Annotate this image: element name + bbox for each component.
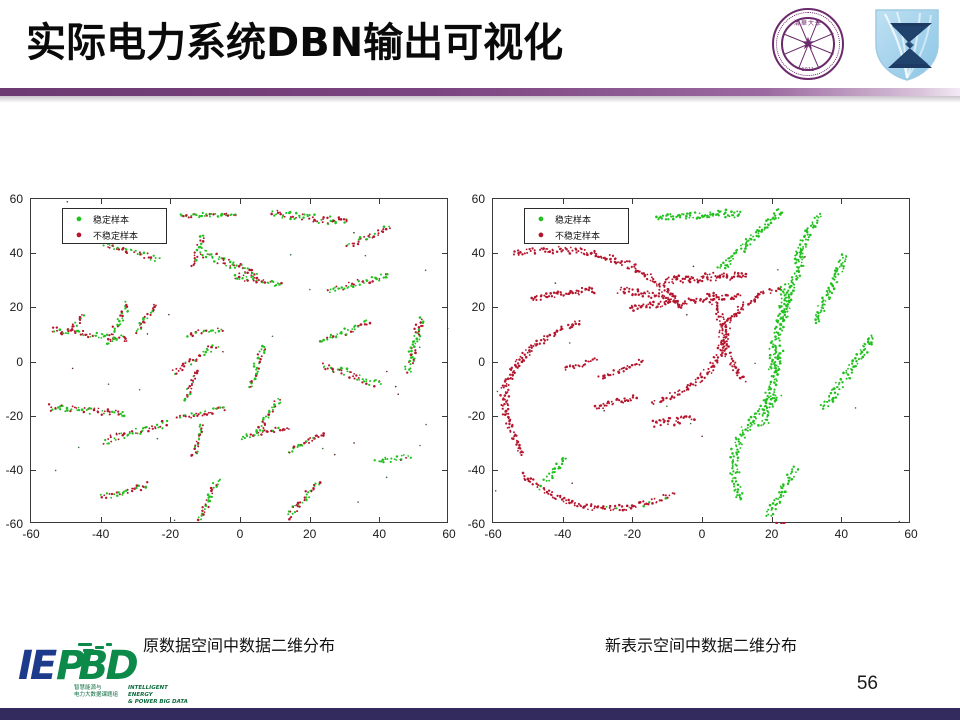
x-tick-top bbox=[632, 199, 633, 204]
scatter-point bbox=[694, 419, 696, 421]
scatter-point bbox=[841, 381, 843, 383]
scatter-point bbox=[681, 391, 683, 393]
scatter-point bbox=[726, 276, 729, 279]
scatter-point bbox=[285, 212, 287, 214]
x-tick-label: -60 bbox=[484, 527, 501, 541]
scatter-point bbox=[197, 519, 200, 522]
scatter-point bbox=[157, 438, 159, 440]
scatter-point bbox=[709, 371, 711, 373]
scatter-point bbox=[773, 391, 775, 393]
scatter-point bbox=[86, 409, 88, 411]
scatter-point bbox=[93, 335, 95, 337]
scatter-point bbox=[790, 292, 793, 295]
x-tick-top bbox=[240, 199, 241, 204]
scatter-point bbox=[556, 330, 559, 333]
scatter-point bbox=[736, 454, 738, 456]
scatter-point bbox=[268, 417, 270, 419]
scatter-point bbox=[263, 429, 265, 431]
scatter-point bbox=[842, 372, 845, 375]
scatter-point bbox=[273, 403, 276, 406]
scatter-point bbox=[353, 284, 355, 286]
scatter-point bbox=[678, 389, 680, 391]
scatter-point bbox=[555, 498, 557, 500]
scatter-point bbox=[192, 213, 194, 215]
scatter-point bbox=[265, 415, 267, 417]
scatter-point bbox=[631, 306, 634, 309]
scatter-point bbox=[161, 427, 163, 429]
scatter-point bbox=[771, 289, 773, 291]
scatter-point bbox=[565, 248, 568, 251]
scatter-point bbox=[788, 299, 790, 301]
scatter-point bbox=[725, 347, 727, 349]
scatter-point bbox=[663, 286, 665, 288]
scatter-point bbox=[792, 290, 794, 292]
scatter-point bbox=[105, 497, 107, 499]
scatter-point bbox=[652, 304, 654, 306]
scatter-point bbox=[647, 303, 649, 305]
scatter-point bbox=[635, 397, 638, 400]
scatter-point bbox=[575, 364, 577, 366]
scatter-point bbox=[779, 357, 781, 359]
scatter-point bbox=[711, 303, 713, 305]
scatter-point bbox=[538, 489, 540, 491]
scatter-point bbox=[656, 283, 658, 285]
scatter-point bbox=[506, 383, 508, 385]
scatter-point bbox=[117, 318, 119, 320]
scatter-point bbox=[783, 308, 785, 310]
scatter-point bbox=[736, 448, 738, 450]
scatter-point bbox=[692, 383, 694, 385]
scatter-point bbox=[259, 358, 262, 361]
scatter-point bbox=[614, 505, 616, 507]
scatter-point bbox=[594, 505, 596, 507]
scatter-point bbox=[779, 334, 781, 336]
scatter-point bbox=[120, 310, 123, 313]
scatter-point bbox=[672, 218, 675, 221]
scatter-point bbox=[329, 291, 331, 293]
scatter-point bbox=[774, 335, 777, 338]
scatter-point bbox=[251, 386, 253, 388]
scatter-point bbox=[381, 458, 384, 461]
scatter-point bbox=[280, 282, 283, 285]
scatter-point bbox=[771, 403, 773, 405]
scatter-point bbox=[307, 438, 309, 440]
scatter-point bbox=[709, 211, 711, 213]
scatter-point bbox=[775, 498, 777, 500]
x-tick-label: -20 bbox=[162, 527, 179, 541]
scatter-point bbox=[228, 259, 230, 261]
scatter-point bbox=[723, 341, 726, 344]
scatter-point bbox=[747, 427, 749, 429]
scatter-point bbox=[510, 419, 512, 421]
scatter-point bbox=[782, 290, 784, 292]
scatter-point bbox=[861, 356, 864, 359]
scatter-point bbox=[55, 470, 57, 472]
scatter-point bbox=[636, 363, 638, 365]
scatter-point bbox=[743, 250, 745, 252]
scatter-point bbox=[765, 419, 767, 421]
scatter-point bbox=[642, 295, 645, 298]
scatter-point bbox=[852, 359, 855, 362]
scatter-point bbox=[258, 368, 260, 370]
scatter-point bbox=[253, 280, 255, 282]
scatter-point bbox=[669, 392, 671, 394]
scatter-point bbox=[731, 277, 734, 280]
scatter-point bbox=[741, 276, 743, 278]
scatter-point bbox=[740, 307, 742, 309]
scatter-point bbox=[184, 398, 187, 401]
scatter-point bbox=[759, 226, 761, 228]
scatter-point bbox=[603, 374, 606, 377]
y-tick-right bbox=[904, 362, 909, 363]
scatter-point bbox=[588, 361, 590, 363]
scatter-point bbox=[146, 317, 148, 319]
scatter-point bbox=[827, 294, 829, 296]
scatter-point bbox=[330, 288, 332, 290]
scatter-point bbox=[607, 401, 610, 404]
scatter-point bbox=[203, 237, 205, 239]
scatter-point bbox=[690, 382, 693, 385]
scatter-point bbox=[739, 211, 741, 213]
scatter-point bbox=[672, 215, 674, 217]
scatter-point bbox=[199, 215, 202, 218]
scatter-point bbox=[197, 329, 199, 331]
seal-year-text: 1911 bbox=[772, 67, 844, 73]
scatter-point bbox=[686, 314, 688, 316]
scatter-point bbox=[733, 485, 735, 487]
scatter-point bbox=[727, 345, 730, 348]
scatter-point bbox=[567, 250, 569, 252]
scatter-point bbox=[656, 422, 658, 424]
scatter-point bbox=[189, 391, 191, 393]
scatter-point bbox=[724, 212, 727, 215]
scatter-point bbox=[365, 319, 367, 321]
scatter-point bbox=[817, 305, 819, 307]
scatter-point bbox=[104, 410, 106, 412]
scatter-point bbox=[322, 434, 325, 437]
scatter-point bbox=[584, 363, 586, 365]
scatter-point bbox=[725, 336, 727, 338]
scatter-point bbox=[725, 209, 728, 212]
scatter-point bbox=[365, 255, 367, 257]
scatter-point bbox=[290, 254, 292, 256]
page-title: 实际电力系统DBN输出可视化 bbox=[26, 14, 563, 72]
scatter-point bbox=[734, 362, 736, 364]
scatter-point bbox=[693, 266, 695, 268]
scatter-point bbox=[190, 412, 192, 414]
scatter-point bbox=[207, 506, 209, 508]
scatter-point bbox=[766, 511, 768, 513]
scatter-point bbox=[660, 424, 662, 426]
scatter-point bbox=[202, 424, 204, 426]
scatter-point bbox=[103, 244, 105, 246]
scatter-point bbox=[279, 429, 281, 431]
legend-label-stable: 稳定样本 bbox=[552, 213, 591, 226]
scatter-point bbox=[514, 433, 516, 435]
scatter-point bbox=[555, 282, 557, 284]
x-tick bbox=[379, 517, 380, 522]
scatter-point bbox=[131, 490, 133, 492]
scatter-point bbox=[179, 367, 181, 369]
scatter-point bbox=[837, 386, 839, 388]
scatter-point bbox=[723, 339, 725, 341]
scatter-point bbox=[532, 345, 534, 347]
scatter-point bbox=[563, 497, 565, 499]
scatter-point bbox=[140, 327, 142, 329]
scatter-point bbox=[735, 496, 737, 498]
scatter-point bbox=[775, 367, 777, 369]
brand-mark-ie: IE bbox=[18, 645, 54, 687]
scatter-point bbox=[797, 259, 799, 261]
scatter-point bbox=[730, 362, 732, 364]
scatter-point bbox=[190, 265, 192, 267]
scatter-point bbox=[277, 427, 279, 429]
scatter-point bbox=[412, 343, 414, 345]
x-tick-top bbox=[702, 199, 703, 204]
scatter-point bbox=[272, 281, 274, 283]
scatter-point bbox=[817, 315, 819, 317]
scatter-point bbox=[571, 323, 574, 326]
scatter-point bbox=[372, 235, 375, 238]
scatter-point bbox=[127, 310, 129, 312]
scatter-point bbox=[736, 294, 738, 296]
scatter-point bbox=[683, 416, 685, 418]
scatter-point bbox=[775, 378, 777, 380]
scatter-point bbox=[577, 292, 579, 294]
scatter-point bbox=[551, 295, 553, 297]
scatter-point bbox=[685, 217, 687, 219]
scatter-point bbox=[407, 455, 409, 457]
scatter-point bbox=[757, 232, 759, 234]
scatter-point bbox=[596, 407, 598, 409]
scatter-point bbox=[275, 284, 277, 286]
y-tick bbox=[31, 253, 36, 254]
scatter-point bbox=[680, 306, 683, 309]
scatter-point bbox=[241, 438, 243, 440]
scatter-point bbox=[95, 335, 97, 337]
scatter-point bbox=[129, 432, 131, 434]
scatter-point bbox=[780, 289, 782, 291]
figure-caption-new: 新表示空间中数据二维分布 bbox=[492, 632, 910, 656]
scatter-point bbox=[234, 213, 236, 215]
scatter-point bbox=[726, 273, 728, 275]
scatter-point bbox=[760, 291, 762, 293]
scatter-point bbox=[584, 288, 587, 291]
scatter-point bbox=[363, 282, 365, 284]
scatter-point bbox=[612, 509, 614, 511]
scatter-point bbox=[410, 457, 412, 459]
scatter-point bbox=[688, 297, 690, 299]
scatter-point bbox=[277, 210, 279, 212]
scatter-point bbox=[706, 216, 708, 218]
scatter-point bbox=[736, 491, 739, 494]
scatter-point bbox=[543, 338, 545, 340]
scatter-point bbox=[728, 333, 730, 335]
scatter-point bbox=[352, 286, 355, 289]
scatter-point bbox=[804, 235, 806, 237]
scatter-point bbox=[581, 252, 583, 254]
scatter-point bbox=[353, 373, 355, 375]
scatter-point bbox=[255, 281, 258, 284]
scatter-point bbox=[593, 250, 595, 252]
scatter-point bbox=[773, 381, 776, 384]
scatter-point bbox=[723, 334, 725, 336]
scatter-point bbox=[753, 239, 755, 241]
scatter-point bbox=[182, 215, 184, 217]
scatter-point bbox=[631, 288, 633, 290]
scatter-point bbox=[723, 318, 725, 320]
scatter-point bbox=[194, 257, 196, 259]
x-tick bbox=[772, 517, 773, 522]
scatter-point bbox=[135, 332, 137, 334]
scatter-point bbox=[726, 294, 729, 297]
scatter-point bbox=[538, 484, 540, 486]
scatter-point bbox=[658, 292, 660, 294]
scatter-point bbox=[780, 214, 782, 216]
scatter-point bbox=[322, 216, 325, 219]
scatter-point bbox=[551, 475, 553, 477]
scatter-point bbox=[571, 292, 574, 295]
scatter-point bbox=[814, 318, 817, 321]
scatter-point bbox=[800, 251, 802, 253]
scatter-point bbox=[176, 416, 178, 418]
scatter-point bbox=[162, 422, 164, 424]
scatter-point bbox=[665, 297, 667, 299]
scatter-point bbox=[791, 468, 793, 470]
scatter-point bbox=[215, 332, 217, 334]
scatter-point bbox=[304, 500, 306, 502]
scatter-point bbox=[395, 386, 397, 388]
scatter-point bbox=[211, 412, 214, 415]
scatter-point bbox=[202, 513, 205, 516]
scatter-point bbox=[686, 415, 688, 417]
scatter-point bbox=[630, 507, 633, 510]
scatter-point bbox=[375, 278, 378, 281]
scatter-point bbox=[195, 332, 197, 334]
scatter-point bbox=[127, 489, 129, 491]
scatter-point bbox=[210, 253, 213, 256]
scatter-point bbox=[775, 356, 777, 358]
scatter-point bbox=[807, 239, 809, 241]
scatter-point bbox=[292, 506, 294, 508]
scatter-point bbox=[384, 458, 386, 460]
scatter-point bbox=[704, 272, 707, 275]
y-tick bbox=[493, 470, 498, 471]
scatter-point bbox=[536, 343, 539, 346]
x-tick-label: 60 bbox=[904, 527, 917, 541]
scatter-point bbox=[716, 296, 719, 299]
scatter-point bbox=[726, 340, 728, 342]
scatter-point bbox=[898, 521, 900, 523]
scatter-point bbox=[78, 407, 80, 409]
scatter-point bbox=[776, 503, 778, 505]
scatter-point bbox=[520, 454, 522, 456]
scatter-point bbox=[187, 387, 189, 389]
scatter-point bbox=[127, 492, 129, 494]
scatter-point bbox=[570, 501, 572, 503]
scatter-point bbox=[801, 258, 803, 260]
scatter-point bbox=[306, 493, 308, 495]
scatter-point bbox=[553, 292, 555, 294]
scatter-point bbox=[366, 279, 369, 282]
scatter-point bbox=[574, 504, 576, 506]
scatter-point bbox=[782, 350, 785, 353]
scatter-point bbox=[309, 289, 311, 291]
scatter-point bbox=[728, 257, 730, 259]
scatter-point bbox=[648, 295, 650, 297]
scatter-point bbox=[783, 288, 785, 290]
scatter-point bbox=[839, 378, 842, 381]
scatter-point bbox=[108, 342, 110, 344]
scatter-point bbox=[736, 465, 738, 467]
scatter-point bbox=[256, 273, 258, 275]
scatter-point bbox=[610, 261, 612, 263]
scatter-point bbox=[335, 335, 337, 337]
scatter-point bbox=[568, 502, 571, 505]
scatter-point bbox=[308, 496, 310, 498]
y-tick-label: 60 bbox=[10, 192, 23, 206]
scatter-point bbox=[544, 492, 546, 494]
scatter-point bbox=[628, 290, 630, 292]
scatter-point bbox=[581, 287, 583, 289]
scatter-point bbox=[656, 285, 658, 287]
scatter-point bbox=[64, 410, 66, 412]
scatter-point bbox=[208, 412, 210, 414]
scatter-point bbox=[521, 253, 523, 255]
scatter-point bbox=[567, 499, 570, 502]
scatter-point bbox=[189, 358, 192, 361]
scatter-point bbox=[823, 401, 825, 403]
scatter-point bbox=[737, 457, 740, 460]
scatter-point bbox=[792, 279, 794, 281]
scatter-point bbox=[866, 351, 869, 354]
scatter-point bbox=[697, 377, 700, 380]
scatter-point bbox=[145, 426, 147, 428]
scatter-point bbox=[145, 486, 147, 488]
scatter-point bbox=[308, 218, 310, 220]
scatter-point bbox=[359, 284, 361, 286]
scatter-point bbox=[778, 368, 781, 371]
scatter-point bbox=[844, 260, 846, 262]
scatter-point bbox=[828, 395, 830, 397]
scatter-point bbox=[670, 298, 672, 300]
scatter-point bbox=[514, 372, 516, 374]
scatter-point bbox=[775, 395, 777, 397]
scatter-point bbox=[378, 232, 380, 234]
scatter-point bbox=[731, 315, 733, 317]
scatter-point bbox=[727, 338, 729, 340]
scatter-point bbox=[828, 289, 830, 291]
scatter-point bbox=[103, 413, 105, 415]
scatter-point bbox=[651, 401, 653, 403]
scatter-point bbox=[682, 278, 684, 280]
scatter-point bbox=[422, 325, 424, 327]
scatter-point bbox=[71, 327, 73, 329]
scatter-point bbox=[289, 218, 292, 221]
scatter-point bbox=[365, 379, 367, 381]
scatter-point bbox=[692, 217, 694, 219]
scatter-point bbox=[253, 363, 255, 365]
scatter-point bbox=[652, 278, 654, 280]
scatter-point bbox=[731, 358, 733, 360]
scatter-point bbox=[624, 292, 626, 294]
scatter-point bbox=[62, 332, 64, 334]
scatter-point bbox=[749, 243, 751, 245]
scatter-point bbox=[523, 475, 525, 477]
scatter-point bbox=[212, 407, 215, 410]
scatter-point bbox=[320, 219, 322, 221]
scatter-point bbox=[581, 291, 583, 293]
